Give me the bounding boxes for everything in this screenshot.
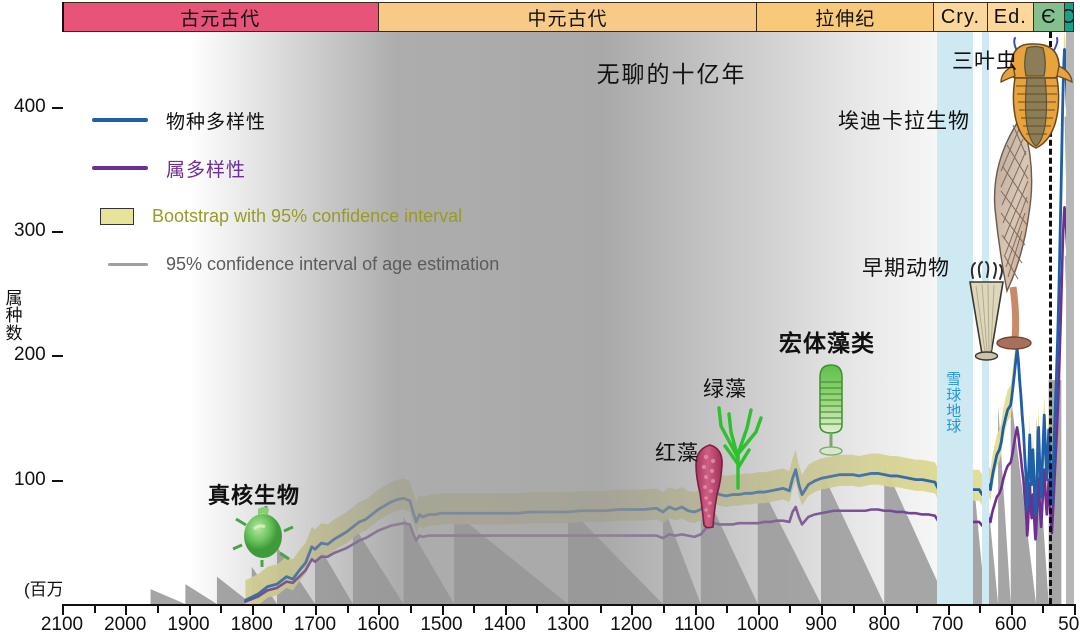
y-tick (52, 107, 63, 109)
timeline-segment-0: 古元古代 (63, 3, 379, 31)
y-tick-label: 400 (14, 96, 46, 118)
organism-label-5: 埃迪卡拉生物 (838, 105, 970, 135)
organism-label-2: 绿藻 (703, 373, 747, 403)
x-tick-label: 800 (868, 614, 900, 636)
timeline-segment-label: 拉伸纪 (815, 4, 875, 31)
y-axis-title: 属种数 (4, 290, 24, 342)
x-tick-label: 1800 (231, 614, 273, 636)
timeline-segment-2: 拉伸纪 (757, 3, 934, 31)
x-tick-label: 700 (932, 614, 964, 636)
legend-label: 95% confidence interval of age estimatio… (166, 254, 499, 275)
timeline-segment-label: Ed. (994, 6, 1027, 29)
legend-label: Bootstrap with 95% confidence interval (152, 206, 462, 227)
chart-legend: 物种多样性属多样性Bootstrap with 95% confidence i… (92, 96, 499, 288)
legend-item-3: 95% confidence interval of age estimatio… (92, 240, 499, 288)
x-tick-minor (410, 604, 412, 613)
x-tick-minor (979, 604, 981, 613)
x-tick-label: 1500 (420, 614, 462, 636)
y-tick (52, 231, 63, 233)
x-tick-minor (536, 604, 538, 613)
x-tick-minor (1042, 604, 1044, 613)
x-tick-label: 1400 (484, 614, 526, 636)
organism-label-4: 早期动物 (862, 252, 950, 282)
macroalgae-illustration (813, 364, 849, 456)
x-tick-minor (600, 604, 602, 613)
ediacaran-frond-illustration (983, 115, 1045, 355)
x-tick-minor (220, 604, 222, 613)
legend-label: 属多样性 (166, 155, 246, 182)
chart-figure: 古元古代中元古代拉伸纪Cry.Ed.ЄO 属种数 (百万年) 雪球地球 无聊的十… (0, 0, 1080, 641)
x-tick-label: 500 (1058, 614, 1080, 636)
legend-line-swatch (108, 263, 148, 266)
x-tick-label: 900 (805, 614, 837, 636)
x-tick-label: 1000 (737, 614, 779, 636)
x-tick-label: 1300 (547, 614, 589, 636)
x-tick-label: 1600 (357, 614, 399, 636)
x-tick-minor (473, 604, 475, 613)
x-tick-minor (853, 604, 855, 613)
x-tick-minor (916, 604, 918, 613)
x-tick-minor (663, 604, 665, 613)
x-tick-minor (157, 604, 159, 613)
green-algae-illustration (711, 402, 767, 488)
y-tick-label: 300 (14, 220, 46, 242)
timeline-segment-label: Є (1041, 6, 1056, 29)
chart-title: 无聊的十亿年 (596, 55, 746, 89)
legend-label: 物种多样性 (166, 107, 266, 134)
x-tick-minor (94, 604, 96, 613)
x-tick-minor (283, 604, 285, 613)
timeline-segment-1: 中元古代 (379, 3, 758, 31)
eukaryote-illustration (232, 505, 294, 567)
legend-item-1: 属多样性 (92, 144, 499, 192)
legend-item-0: 物种多样性 (92, 96, 499, 144)
x-tick-label: 1200 (610, 614, 652, 636)
timeline-segment-3: Cry. (934, 3, 988, 31)
x-tick-label: 1100 (674, 614, 715, 636)
x-tick-minor (726, 604, 728, 613)
y-tick (52, 355, 63, 357)
organism-label-3: 宏体藻类 (779, 324, 875, 358)
timeline-segment-label: O (1065, 6, 1073, 29)
y-tick-label: 200 (14, 344, 46, 366)
x-tick-label: 2000 (104, 614, 146, 636)
organism-label-6: 三叶虫 (952, 45, 1018, 75)
organism-label-0: 真核生物 (208, 478, 300, 510)
timeline-segment-label: 中元古代 (527, 4, 607, 31)
snowball-earth-label: 雪球地球 (946, 372, 962, 435)
y-tick (52, 480, 63, 482)
timeline-segment-label: Cry. (941, 6, 980, 29)
legend-line-swatch (92, 118, 148, 122)
y-tick-label: 100 (14, 469, 46, 491)
x-tick-label: 1700 (294, 614, 336, 636)
legend-box-swatch (100, 208, 134, 225)
x-tick-label: 600 (995, 614, 1027, 636)
timeline-segment-6: O (1065, 3, 1073, 31)
x-tick-label: 2100 (41, 614, 83, 636)
x-tick-label: 1900 (167, 614, 209, 636)
organism-label-1: 红藻 (655, 437, 699, 467)
timeline-segment-5: Є (1034, 3, 1065, 31)
x-tick-minor (347, 604, 349, 613)
legend-line-swatch (92, 166, 148, 170)
geologic-timeline-bar: 古元古代中元古代拉伸纪Cry.Ed.ЄO (62, 2, 1074, 32)
timeline-segment-4: Ed. (988, 3, 1034, 31)
x-tick-minor (789, 604, 791, 613)
legend-item-2: Bootstrap with 95% confidence interval (92, 192, 499, 240)
timeline-segment-label: 古元古代 (180, 4, 260, 31)
